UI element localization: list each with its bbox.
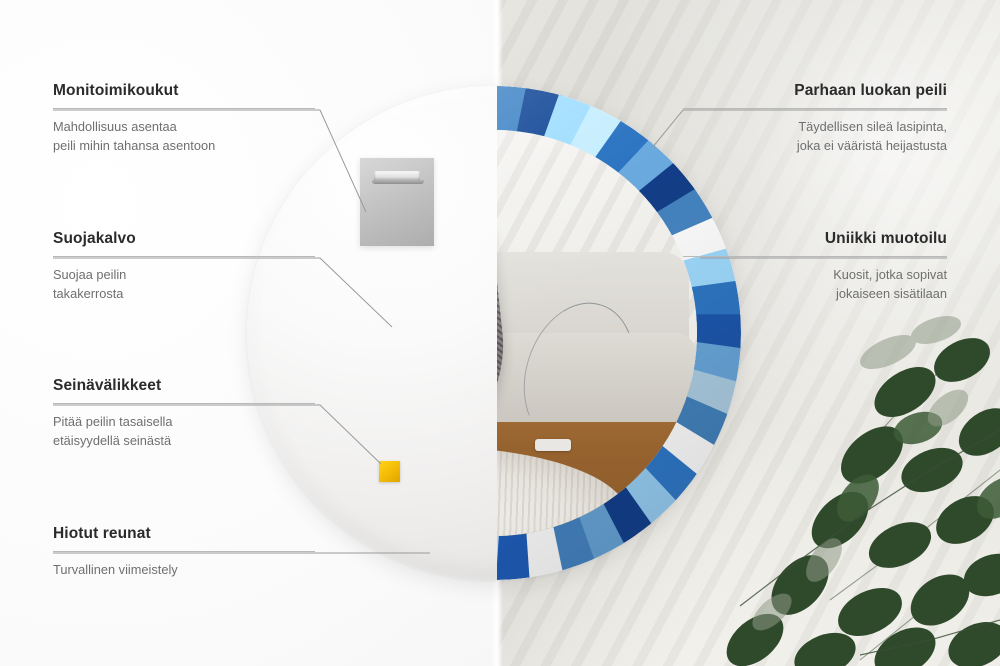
callout-desc: Mahdollisuus asentaa peili mihin tahansa… [53,118,315,155]
round-mirror [247,86,741,580]
callout-rule [53,551,315,552]
callout-title: Parhaan luokan peili [683,82,947,100]
callout-desc: Pitää peilin tasaisella etäisyydellä sei… [53,413,315,450]
callout-rule [53,403,315,404]
callout-desc: Täydellisen sileä lasipinta, joka ei vää… [683,118,947,155]
hanging-hook [360,158,434,246]
callout-monitoimikoukut: Monitoimikoukut Mahdollisuus asentaa pei… [53,82,315,155]
infographic-canvas: Monitoimikoukut Mahdollisuus asentaa pei… [0,0,1000,666]
callout-desc: Kuosit, jotka sopivat jokaiseen sisätila… [683,266,947,303]
callout-title: Monitoimikoukut [53,82,315,100]
callout-seinavalikkeet: Seinävälikkeet Pitää peilin tasaisella e… [53,377,315,450]
lamp-base [535,439,572,451]
callout-rule [53,256,315,257]
callout-title: Suojakalvo [53,230,315,248]
callout-hiotut-reunat: Hiotut reunat Turvallinen viimeistely [53,525,315,580]
callout-desc: Suojaa peilin takakerrosta [53,266,315,303]
callout-title: Hiotut reunat [53,525,315,543]
callout-uniikki-muotoilu: Uniikki muotoilu Kuosit, jotka sopivat j… [683,230,947,303]
hook-slot [374,171,420,182]
callout-parhaan-luokan-peili: Parhaan luokan peili Täydellisen sileä l… [683,82,947,155]
callout-desc: Turvallinen viimeistely [53,561,315,580]
callout-suojakalvo: Suojakalvo Suojaa peilin takakerrosta [53,230,315,303]
callout-rule [683,108,947,109]
callout-title: Uniikki muotoilu [683,230,947,248]
callout-title: Seinävälikkeet [53,377,315,395]
wall-spacer [379,461,400,482]
callout-rule [683,256,947,257]
callout-rule [53,108,315,109]
